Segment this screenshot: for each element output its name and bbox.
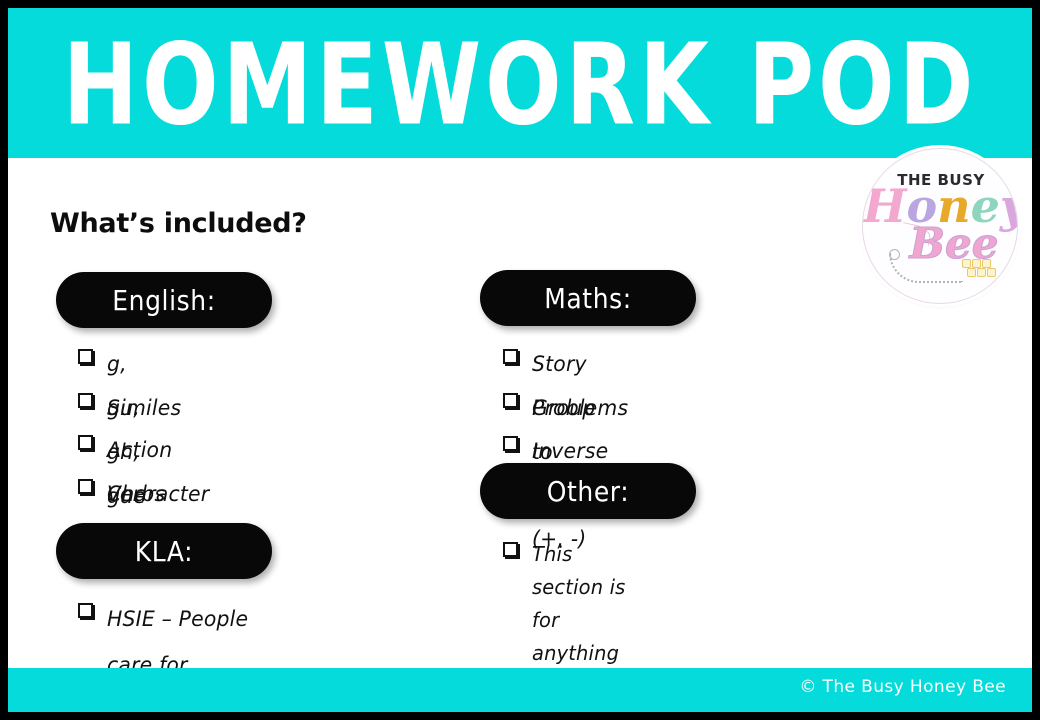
footer-copyright: © The Busy Honey Bee	[799, 677, 1006, 697]
section-header-maths-label: Maths:	[544, 282, 632, 314]
brand-logo: THE BUSY Honey Bee	[862, 148, 1018, 304]
section-header-other: Other:	[480, 463, 696, 519]
checkbox-icon[interactable]	[503, 542, 518, 557]
section-header-kla-label: KLA:	[135, 535, 193, 567]
header-band: HOMEWORK POD	[8, 8, 1032, 158]
slide-root: HOMEWORK POD THE BUSY Honey Bee What’s i…	[0, 0, 1040, 720]
page-title: HOMEWORK POD	[18, 20, 1022, 152]
checkbox-icon[interactable]	[503, 436, 518, 451]
section-header-english: English:	[56, 272, 272, 328]
section-header-other-label: Other:	[547, 475, 630, 507]
section-header-english-label: English:	[112, 284, 216, 316]
honeycomb-icon	[962, 259, 996, 281]
whats-included-heading: What’s included?	[50, 208, 307, 239]
section-header-kla: KLA:	[56, 523, 272, 579]
footer-band: © The Busy Honey Bee	[8, 668, 1032, 712]
checkbox-icon[interactable]	[78, 603, 93, 618]
section-header-maths: Maths:	[480, 270, 696, 326]
checkbox-icon[interactable]	[78, 479, 93, 494]
slide-page: HOMEWORK POD THE BUSY Honey Bee What’s i…	[8, 8, 1032, 712]
checkbox-icon[interactable]	[503, 393, 518, 408]
list-item-label: Similes	[107, 386, 181, 430]
list-item[interactable]: Similes	[78, 386, 184, 430]
checkbox-icon[interactable]	[78, 435, 93, 450]
checkbox-icon[interactable]	[78, 349, 93, 364]
checkbox-icon[interactable]	[78, 393, 93, 408]
checkbox-icon[interactable]	[503, 349, 518, 364]
